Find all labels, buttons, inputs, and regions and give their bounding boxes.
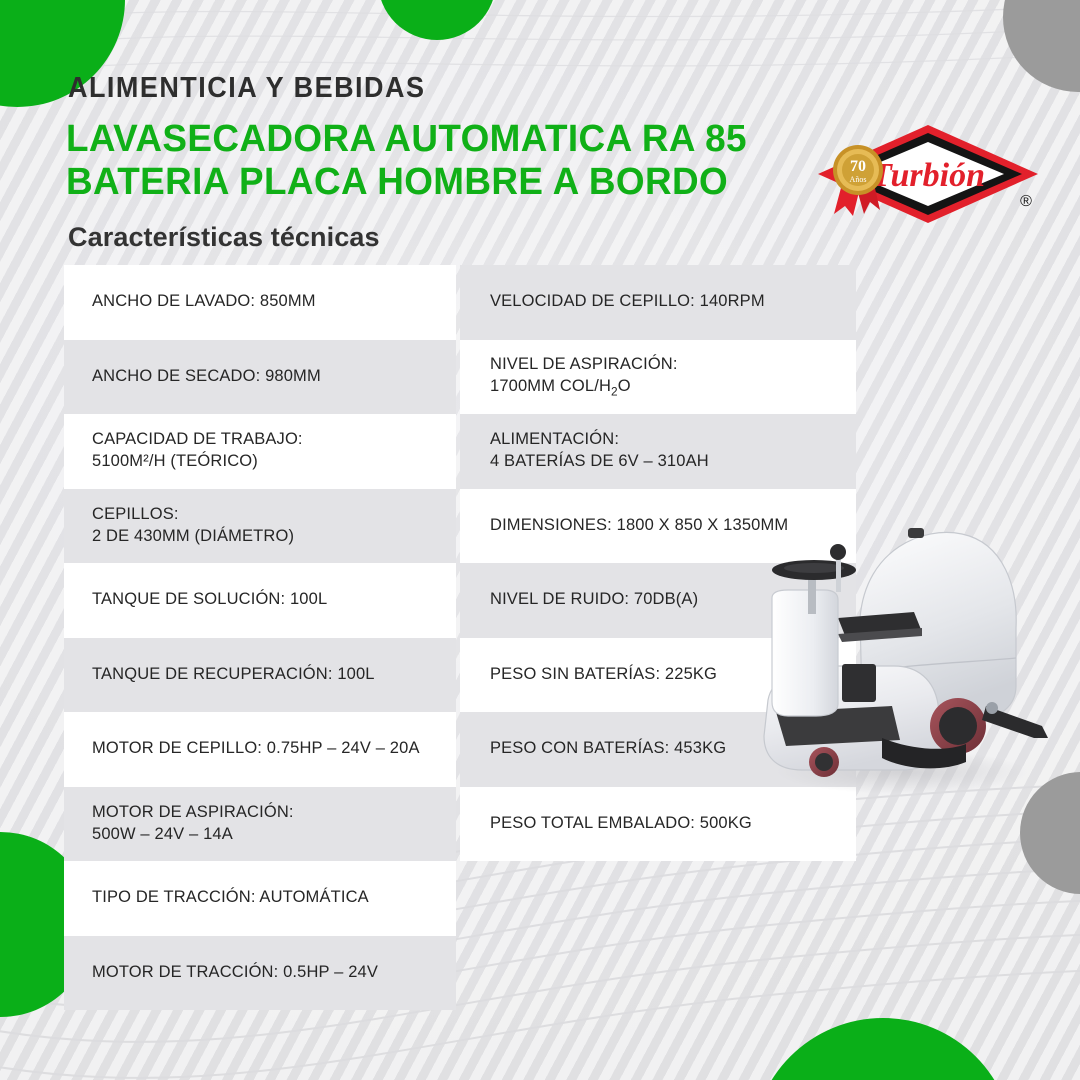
spec-line-1: MOTOR DE CEPILLO: 0.75HP – 24V – 20A (92, 739, 420, 757)
registered-trademark-icon: ® (1020, 193, 1032, 210)
product-arm-joint (986, 702, 998, 714)
section-subtitle: Características técnicas (68, 222, 380, 253)
spec-line-2: 5100M²/H (TEÓRICO) (92, 451, 303, 473)
logo-medal-number: 70 (850, 158, 866, 175)
spec-row: TANQUE DE RECUPERACIÓN: 100L (64, 638, 456, 713)
product-drive-wheel-hub (939, 707, 977, 745)
spec-row: MOTOR DE CEPILLO: 0.75HP – 24V – 20A (64, 712, 456, 787)
spec-line-1: PESO CON BATERÍAS: 453KG (490, 739, 726, 757)
spec-row: CEPILLOS: 2 DE 430MM (DIÁMETRO) (64, 489, 456, 564)
product-image-floor-scrubber (742, 500, 1062, 800)
spec-row: VELOCIDAD DE CEPILLO: 140RPM (460, 265, 856, 340)
spec-line-1: CAPACIDAD DE TRABAJO: (92, 430, 303, 448)
spec-line-1: PESO TOTAL EMBALADO: 500KG (490, 814, 752, 832)
product-solution-tank (772, 590, 838, 716)
product-hood-cap (908, 528, 924, 538)
spec-line-2: 4 BATERÍAS DE 6V – 310AH (490, 451, 709, 473)
spec-row: NIVEL DE ASPIRACIÓN: 1700MM COL/H2O (460, 340, 856, 415)
turbion-logo: Turbión 70 Años ® (812, 122, 1044, 226)
product-steering-column (808, 574, 816, 614)
spec-row: MOTOR DE TRACCIÓN: 0.5HP – 24V (64, 936, 456, 1011)
spec-row: MOTOR DE ASPIRACIÓN: 500W – 24V – 14A (64, 787, 456, 862)
product-side-plate (842, 664, 876, 702)
spec-line-2: 2 DE 430MM (DIÁMETRO) (92, 526, 294, 548)
spec-line-1: VELOCIDAD DE CEPILLO: 140RPM (490, 292, 765, 310)
spec-line-1: CEPILLOS: (92, 505, 179, 523)
spec-row: ANCHO DE LAVADO: 850MM (64, 265, 456, 340)
category-kicker: ALIMENTICIA Y BEBIDAS (68, 72, 425, 105)
logo-medal-word: Años (850, 175, 867, 184)
spec-line-1: ANCHO DE SECADO: 980MM (92, 367, 321, 385)
product-caster-hub (815, 753, 833, 771)
spec-line-1: NIVEL DE RUIDO: 70DB(A) (490, 590, 698, 608)
page-title-line-2: BATERIA PLACA HOMBRE A BORDO (66, 161, 803, 204)
spec-line-2: 1700MM COL/H2O (490, 376, 678, 400)
product-control-stalk (836, 556, 841, 592)
spec-column-left: ANCHO DE LAVADO: 850MM ANCHO DE SECADO: … (64, 265, 456, 1010)
page-title-line-1: LAVASECADORA AUTOMATICA RA 85 (66, 118, 803, 161)
product-spec-sheet: ALIMENTICIA Y BEBIDAS LAVASECADORA AUTOM… (0, 0, 1080, 1080)
logo-wordmark: Turbión (871, 157, 985, 194)
page-title: LAVASECADORA AUTOMATICA RA 85 BATERIA PL… (66, 118, 803, 204)
spec-line-1: MOTOR DE TRACCIÓN: 0.5HP – 24V (92, 963, 378, 981)
spec-row: ALIMENTACIÓN: 4 BATERÍAS DE 6V – 310AH (460, 414, 856, 489)
spec-row: TANQUE DE SOLUCIÓN: 100L (64, 563, 456, 638)
spec-row: CAPACIDAD DE TRABAJO: 5100M²/H (TEÓRICO) (64, 414, 456, 489)
spec-line-1: ANCHO DE LAVADO: 850MM (92, 292, 316, 310)
spec-line-1: TIPO DE TRACCIÓN: AUTOMÁTICA (92, 888, 369, 906)
spec-row: TIPO DE TRACCIÓN: AUTOMÁTICA (64, 861, 456, 936)
product-steering-wheel-inner (784, 563, 844, 573)
spec-line-1: TANQUE DE RECUPERACIÓN: 100L (92, 665, 375, 683)
spec-line-2: 500W – 24V – 14A (92, 824, 294, 846)
spec-line-1: NIVEL DE ASPIRACIÓN: (490, 355, 678, 373)
spec-line-1: PESO SIN BATERÍAS: 225KG (490, 665, 717, 683)
spec-line-1: MOTOR DE ASPIRACIÓN: (92, 803, 294, 821)
spec-line-1: ALIMENTACIÓN: (490, 430, 619, 448)
spec-line-1: TANQUE DE SOLUCIÓN: 100L (92, 590, 327, 608)
spec-row: ANCHO DE SECADO: 980MM (64, 340, 456, 415)
product-control-knob (830, 544, 846, 560)
